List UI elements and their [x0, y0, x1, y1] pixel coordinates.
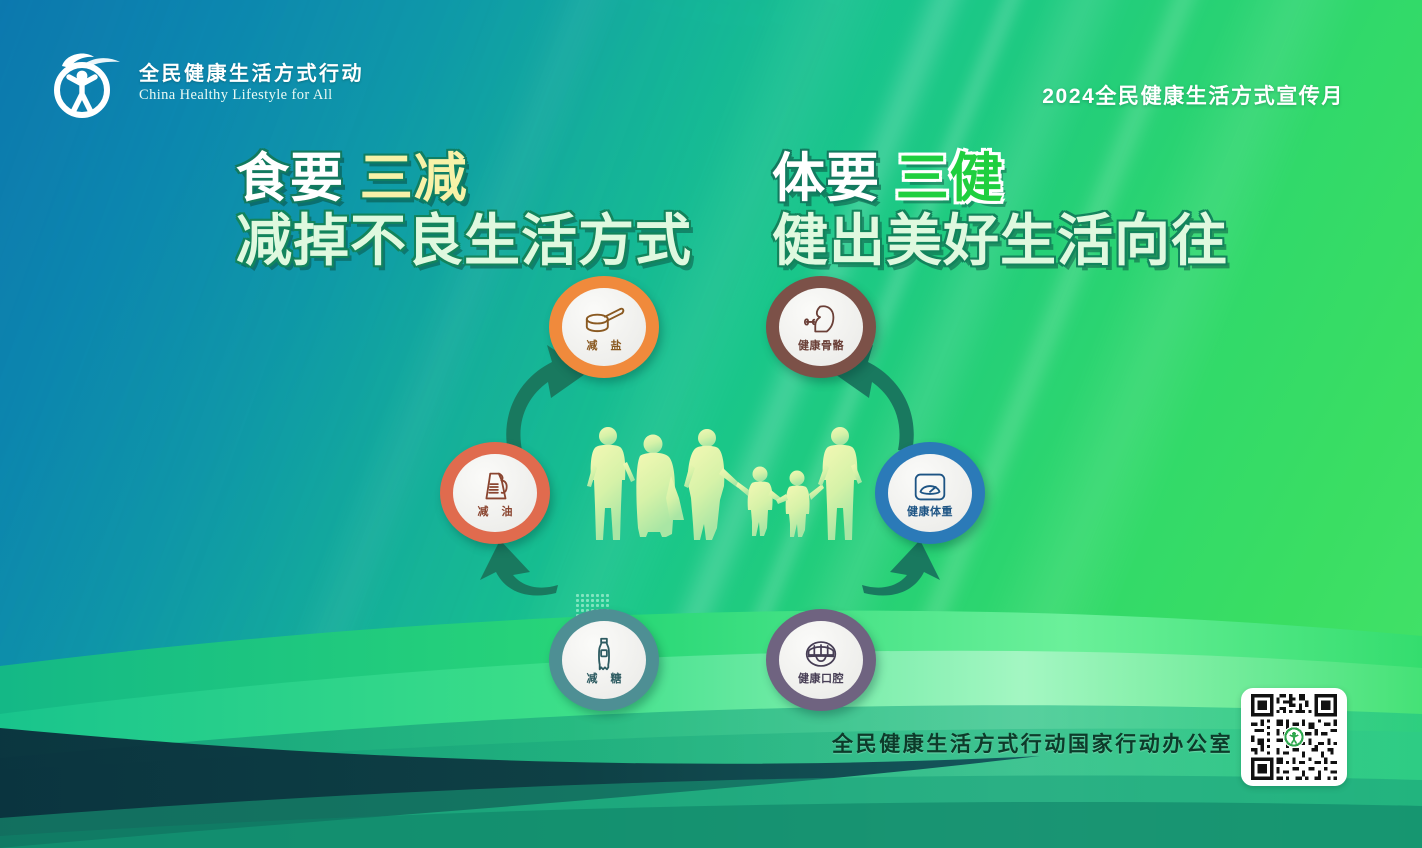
- badge-inner: 减 油: [453, 454, 537, 532]
- headline-right-line2: 健出美好生活向往: [772, 211, 1228, 270]
- headline-right: 体要 三健 健出美好生活向往: [772, 152, 1228, 270]
- wave-ribbons: [0, 518, 1422, 848]
- headline-left-line2: 减掉不良生活方式: [236, 211, 692, 270]
- badge-healthy-bones[interactable]: 健康骨骼: [766, 276, 876, 378]
- badge-label: 减 糖: [581, 674, 626, 685]
- open-mouth-teeth-icon: [800, 635, 842, 673]
- badge-reduce-sugar[interactable]: 减 糖: [549, 609, 659, 711]
- brand-logo-block: 全民健康生活方式行动 China Healthy Lifestyle for A…: [44, 48, 364, 120]
- badge-label: 减 盐: [581, 341, 626, 352]
- headline-left-line1-a: 食要: [236, 149, 344, 208]
- badge-reduce-oil[interactable]: 减 油: [440, 442, 550, 544]
- arm-muscle-bone-icon: [800, 302, 842, 340]
- badge-label: 健康体重: [907, 507, 953, 518]
- badge-inner: 健康骨骼: [779, 288, 863, 366]
- national-office-label: 全民健康生活方式行动国家行动办公室: [832, 728, 1233, 758]
- family-holding-hands-silhouette: [578, 424, 866, 550]
- badge-inner: 减 糖: [562, 621, 646, 699]
- oil-pitcher-icon: [474, 468, 516, 506]
- headline-right-line1-a: 体要: [772, 149, 880, 208]
- badge-inner: 减 盐: [562, 288, 646, 366]
- china-healthy-lifestyle-logo-icon: [44, 48, 126, 120]
- headline-left-line1-b: 三减: [360, 149, 468, 208]
- measuring-scoop-icon: [583, 302, 625, 340]
- brand-name-en: China Healthy Lifestyle for All: [139, 86, 364, 105]
- weight-scale-icon: [909, 468, 951, 506]
- campaign-month-label: 2024全民健康生活方式宣传月: [1042, 80, 1344, 110]
- badge-healthy-weight[interactable]: 健康体重: [875, 442, 985, 544]
- badge-healthy-mouth[interactable]: 健康口腔: [766, 609, 876, 711]
- sugar-bottle-icon: [583, 635, 625, 673]
- qr-code-card[interactable]: [1241, 688, 1347, 786]
- qr-code-icon[interactable]: [1244, 691, 1344, 783]
- headline-right-line1-b: 三健: [896, 149, 1004, 208]
- headline-left: 食要 三减 减掉不良生活方式: [236, 152, 692, 270]
- brand-name-cn: 全民健康生活方式行动: [139, 63, 364, 86]
- badge-label: 减 油: [472, 507, 517, 518]
- badge-reduce-salt[interactable]: 减 盐: [549, 276, 659, 378]
- badge-inner: 健康体重: [888, 454, 972, 532]
- badge-label: 健康口腔: [798, 674, 844, 685]
- poster-canvas: 全民健康生活方式行动 China Healthy Lifestyle for A…: [0, 0, 1422, 848]
- badge-inner: 健康口腔: [779, 621, 863, 699]
- badge-label: 健康骨骼: [798, 341, 844, 352]
